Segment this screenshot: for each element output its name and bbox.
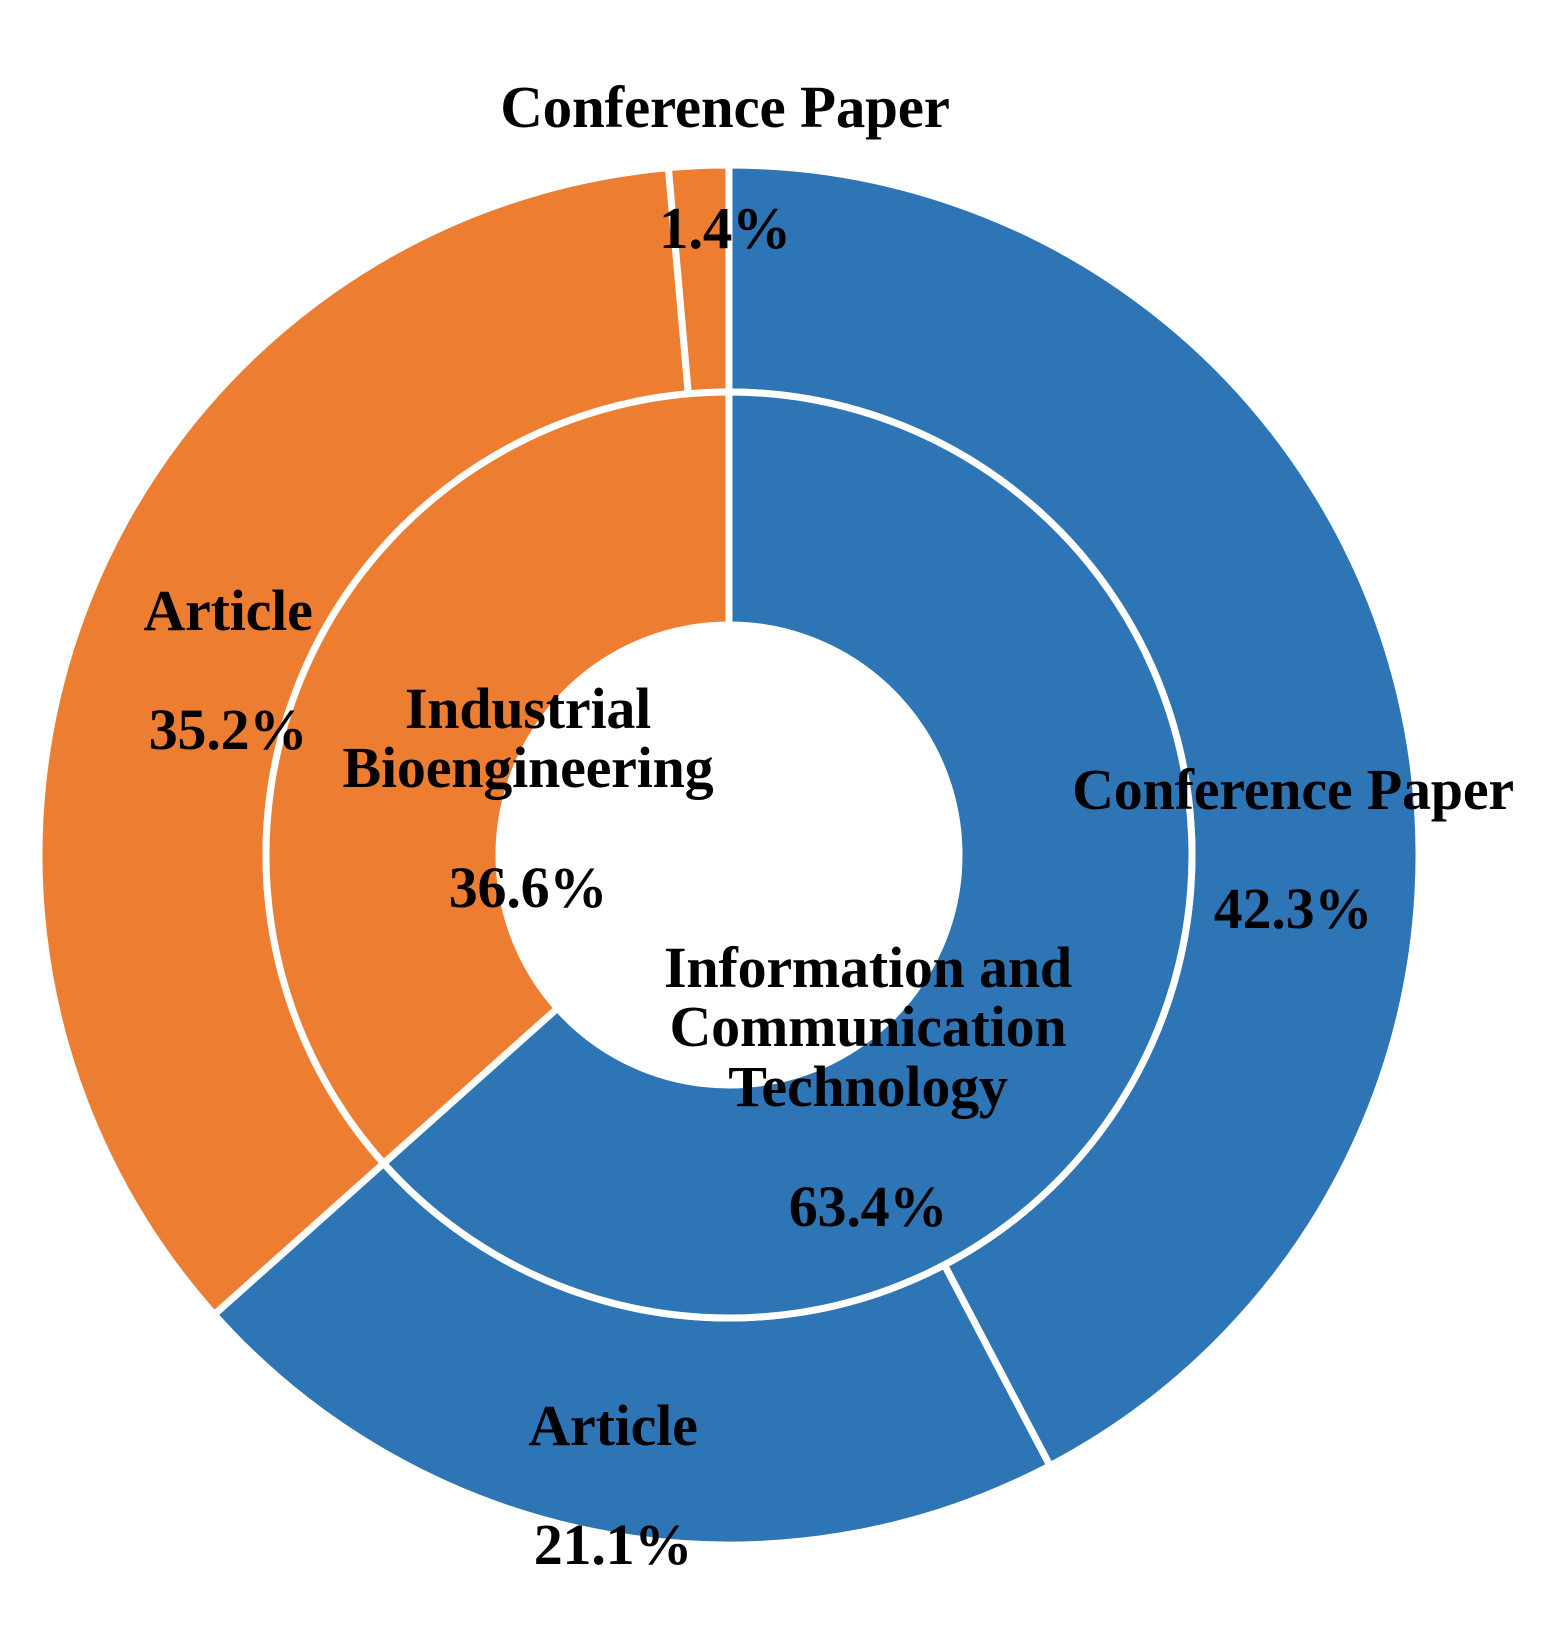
sunburst-chart: Conference Paper 1.4% Article 35.2% Conf…: [0, 0, 1565, 1583]
outer-ring-group: [39, 165, 1419, 1545]
donut-chart-svg: [0, 0, 1565, 1583]
inner-ring-group: [266, 392, 1192, 1318]
